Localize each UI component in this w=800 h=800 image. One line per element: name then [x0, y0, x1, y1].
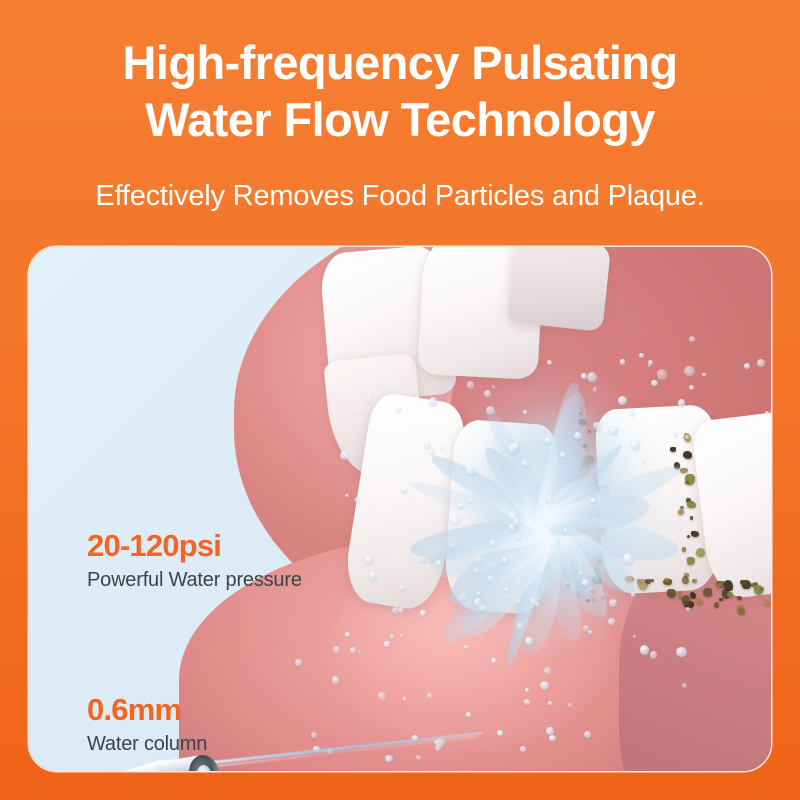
- water-droplet: [350, 647, 356, 653]
- water-droplet: [549, 735, 555, 741]
- water-droplet: [631, 440, 640, 449]
- water-droplet: [676, 647, 687, 658]
- water-droplet: [517, 600, 521, 604]
- water-droplet: [451, 517, 459, 525]
- water-droplet: [678, 399, 686, 407]
- water-droplet: [590, 498, 595, 503]
- water-droplet: [465, 465, 476, 476]
- water-droplet: [563, 528, 569, 534]
- water-droplet: [490, 540, 497, 547]
- headline-line-1: High-frequency Pulsating: [0, 34, 800, 91]
- water-droplet: [356, 412, 360, 416]
- water-droplet: [618, 396, 627, 405]
- water-droplet: [550, 538, 560, 548]
- water-droplet: [492, 385, 495, 388]
- water-droplet: [686, 607, 690, 611]
- water-droplet: [467, 381, 475, 389]
- food-particle: [670, 447, 676, 451]
- water-droplet: [487, 575, 494, 582]
- food-particle: [764, 600, 769, 605]
- food-particle: [727, 592, 733, 597]
- water-droplet: [522, 460, 529, 467]
- water-droplet: [466, 712, 471, 717]
- food-particle: [740, 580, 745, 585]
- spec-value: 0.6mm: [87, 693, 207, 727]
- food-particle: [717, 583, 721, 588]
- water-droplet: [657, 369, 668, 380]
- water-droplet: [345, 632, 350, 637]
- headline-line-2: Water Flow Technology: [0, 91, 800, 148]
- spec-label: Powerful Water pressure: [87, 567, 302, 593]
- water-droplet: [524, 699, 530, 705]
- water-droplet: [568, 703, 572, 707]
- food-particle: [714, 602, 720, 608]
- water-droplet: [593, 387, 597, 391]
- spec-water-pressure: 20-120psi Powerful Water pressure: [87, 529, 302, 593]
- water-droplet: [384, 641, 390, 647]
- water-droplet: [574, 432, 582, 440]
- water-droplet: [486, 406, 495, 415]
- tooth-upper-right-block: [507, 247, 612, 332]
- food-particle: [680, 506, 684, 509]
- water-droplet: [458, 503, 464, 509]
- water-droplet: [429, 397, 438, 406]
- water-droplet: [582, 579, 588, 585]
- water-droplet: [757, 359, 765, 367]
- water-droplet: [398, 607, 404, 613]
- water-droplet: [588, 630, 592, 634]
- spec-water-column: 0.6mm Water column: [87, 693, 207, 757]
- water-droplet: [544, 437, 551, 444]
- water-droplet: [369, 571, 377, 579]
- food-particle: [690, 592, 696, 598]
- food-particle: [696, 599, 703, 605]
- water-droplet: [583, 625, 589, 631]
- feature-card: 20-120psi Powerful Water pressure 0.6mm …: [29, 247, 771, 771]
- water-droplet: [544, 667, 551, 674]
- water-droplet: [333, 646, 340, 653]
- water-droplet: [689, 385, 694, 390]
- water-droplet: [517, 622, 524, 629]
- water-droplet: [504, 587, 509, 592]
- water-droplet: [682, 683, 687, 688]
- water-droplet: [548, 701, 552, 705]
- spec-value: 20-120psi: [87, 529, 302, 563]
- water-droplet: [354, 497, 360, 503]
- promo-banner: High-frequency Pulsating Water Flow Tech…: [0, 0, 800, 800]
- water-droplet: [464, 645, 468, 649]
- water-droplet: [474, 568, 478, 572]
- water-droplet: [451, 544, 455, 548]
- water-droplet: [702, 373, 705, 376]
- water-droplet: [475, 556, 483, 564]
- food-particle: [737, 596, 741, 600]
- food-particle: [719, 598, 723, 602]
- food-particle: [682, 595, 690, 605]
- water-droplet: [623, 553, 634, 564]
- water-droplet: [525, 637, 533, 645]
- water-droplet: [530, 597, 538, 605]
- water-droplet: [390, 634, 394, 638]
- food-particle: [691, 531, 698, 537]
- water-droplet: [584, 731, 591, 738]
- spec-label: Water column: [87, 731, 207, 757]
- page-title: High-frequency Pulsating Water Flow Tech…: [0, 34, 800, 148]
- water-droplet: [400, 586, 404, 590]
- water-droplet: [640, 645, 649, 654]
- water-droplet: [650, 651, 657, 658]
- food-particle: [682, 576, 689, 584]
- food-particle: [687, 501, 697, 509]
- water-droplet: [484, 390, 491, 397]
- water-droplet: [684, 366, 695, 377]
- food-particle: [683, 451, 692, 458]
- water-droplet: [385, 755, 393, 763]
- food-particle: [680, 468, 687, 474]
- water-droplet: [560, 452, 566, 458]
- water-droplet: [520, 746, 526, 752]
- water-droplet: [459, 593, 467, 601]
- food-particle: [667, 589, 676, 598]
- food-particle: [738, 608, 745, 615]
- water-droplet: [345, 494, 349, 498]
- water-droplet: [593, 422, 600, 429]
- water-droplet: [502, 557, 508, 563]
- food-particle: [724, 580, 733, 591]
- page-subtitle: Effectively Removes Food Particles and P…: [0, 178, 800, 214]
- food-particle: [703, 588, 712, 597]
- water-droplet: [340, 451, 348, 459]
- water-droplet: [630, 410, 636, 416]
- water-droplet: [436, 560, 442, 566]
